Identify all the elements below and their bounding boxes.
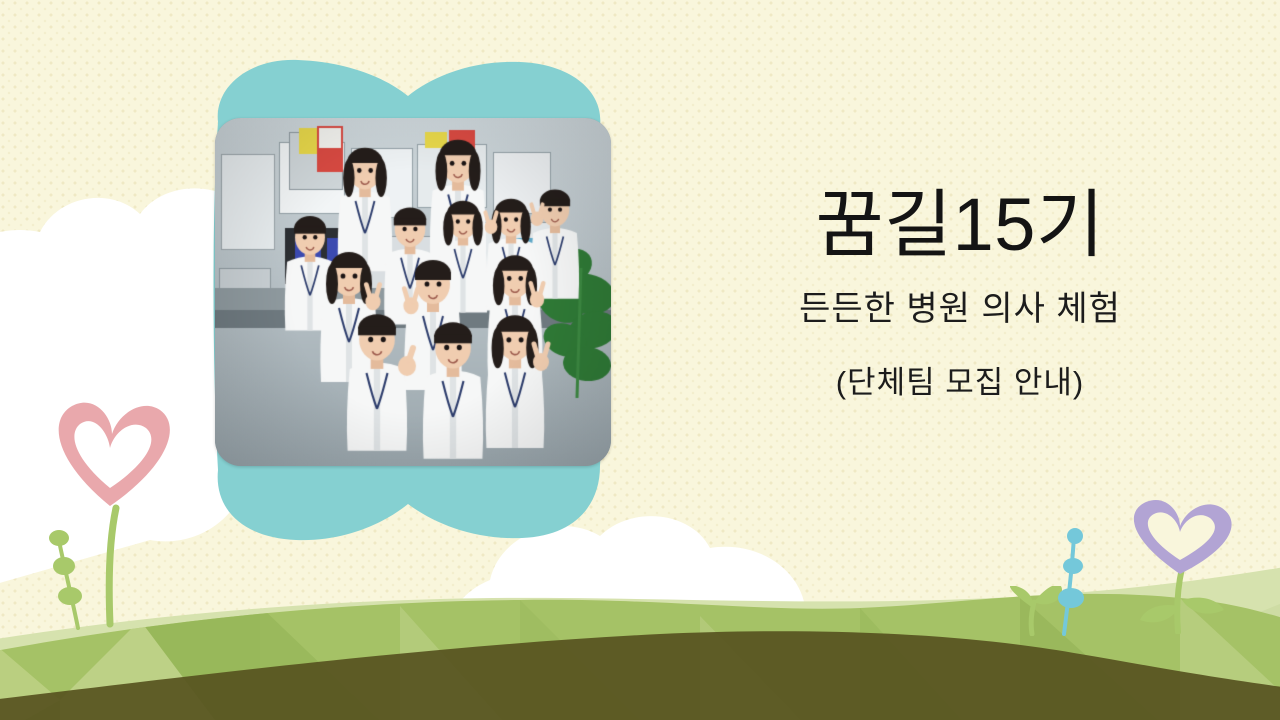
group-photo[interactable] bbox=[215, 118, 611, 466]
presentation-slide: 꿈길15기 든든한 병원 의사 체험 (단체팀 모집 안내) bbox=[0, 0, 1280, 720]
left-bead-stem bbox=[38, 520, 98, 630]
purple-heart-flower bbox=[1114, 498, 1254, 634]
title-text-block: 꿈길15기 든든한 병원 의사 체험 (단체팀 모집 안내) bbox=[660, 186, 1260, 403]
slide-subtitle-primary: 든든한 병원 의사 체험 bbox=[660, 288, 1260, 331]
slide-title: 꿈길15기 bbox=[660, 186, 1260, 264]
slide-subtitle-secondary: (단체팀 모집 안내) bbox=[660, 364, 1260, 403]
photo-card[interactable] bbox=[188, 30, 628, 570]
group-photo-canvas bbox=[215, 118, 611, 466]
right-bead-stem bbox=[1050, 524, 1100, 636]
